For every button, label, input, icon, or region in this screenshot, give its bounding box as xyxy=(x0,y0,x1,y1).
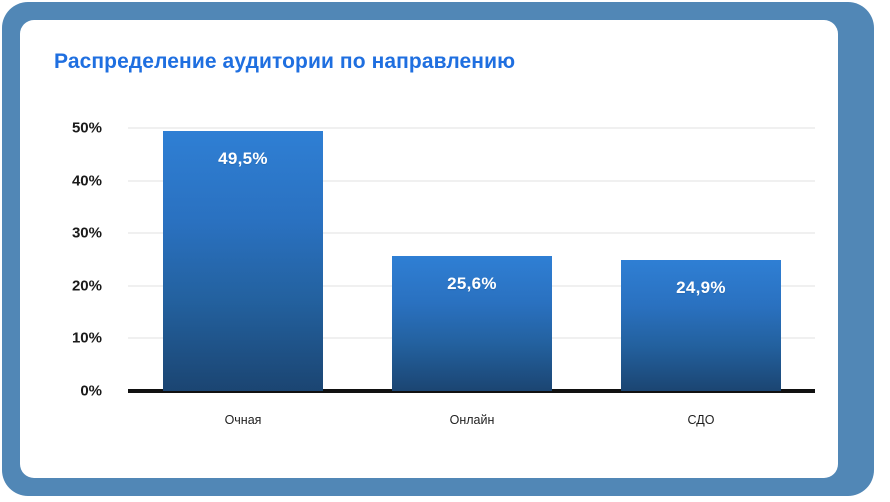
y-axis-tick-label: 20% xyxy=(22,277,102,294)
bar-value-label: 24,9% xyxy=(621,278,781,298)
bar[interactable]: 25,6% xyxy=(392,256,552,391)
y-axis-tick-label: 10% xyxy=(22,330,102,347)
gridline xyxy=(128,127,815,129)
screenshot-root: Распределение аудитории по направлению 0… xyxy=(0,0,890,502)
bar-value-label: 25,6% xyxy=(392,274,552,294)
x-axis-tick-label: Онлайн xyxy=(392,413,552,427)
bar-value-label: 49,5% xyxy=(163,149,323,169)
bar[interactable]: 24,9% xyxy=(621,260,781,391)
chart-card: Распределение аудитории по направлению 0… xyxy=(20,20,838,478)
y-axis-tick-label: 30% xyxy=(22,225,102,242)
y-axis-tick-label: 40% xyxy=(22,172,102,189)
bar[interactable]: 49,5% xyxy=(163,131,323,391)
y-axis-tick-label: 0% xyxy=(22,383,102,400)
x-axis-tick-label: Очная xyxy=(163,413,323,427)
y-axis-tick-label: 50% xyxy=(22,120,102,137)
x-axis-tick-label: СДО xyxy=(621,413,781,427)
bar-chart-plot-area: 0%10%20%30%40%50%49,5%Очная25,6%Онлайн24… xyxy=(20,20,838,478)
